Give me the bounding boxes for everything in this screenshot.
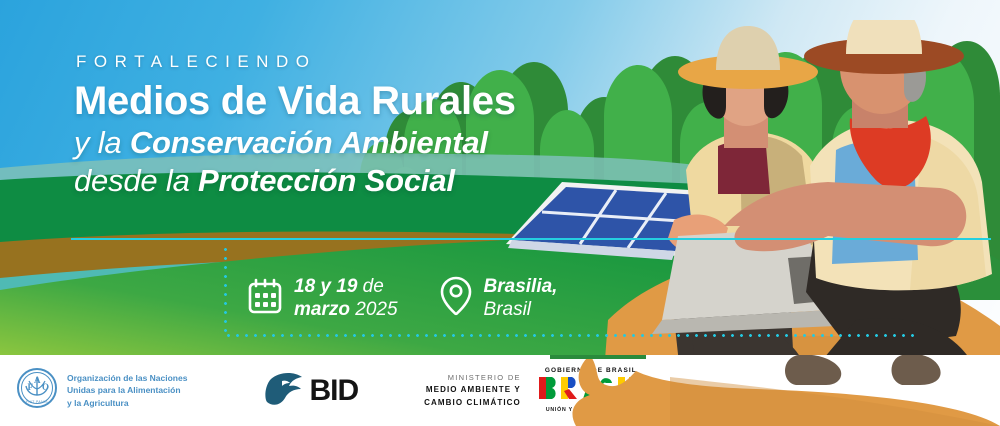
ministry-line-3: CAMBIO CLIMÁTICO: [424, 397, 521, 409]
title-line-2: y la Conservación Ambiental: [74, 124, 634, 161]
svg-text:F: F: [28, 382, 34, 392]
svg-text:FIAT PANIS: FIAT PANIS: [26, 400, 48, 404]
bid-wordmark: BID: [309, 374, 358, 408]
event-date: 18 y 19 de marzo 2025: [248, 276, 398, 320]
title-line-3-prefix: desde la: [74, 163, 198, 198]
accent-rule: [71, 238, 991, 240]
bid-emblem-icon: [265, 371, 305, 410]
logo-fao[interactable]: F A O FIAT PANIS Organización de las Nac…: [16, 367, 187, 414]
horizontal-dotted-divider: [224, 334, 914, 337]
kicker-text: FORTALECIENDO: [76, 52, 634, 72]
event-date-line-1: 18 y 19 de: [294, 276, 398, 298]
ministry-line-1: MINISTERIO DE: [424, 372, 521, 384]
svg-text:A: A: [34, 375, 41, 385]
sponsor-footer: F A O FIAT PANIS Organización de las Nac…: [0, 355, 1000, 426]
brasil-bottom-text: UNIÓN Y RECONSTRUCCIÓN: [539, 407, 643, 414]
event-date-text: 18 y 19 de marzo 2025: [294, 276, 398, 320]
event-date-de: de: [357, 276, 383, 297]
event-date-days: 18 y 19: [294, 276, 357, 297]
ministry-line-2: MEDIO AMBIENTE Y: [424, 384, 521, 396]
title-line-2-emphasis: Conservación Ambiental: [130, 125, 488, 160]
logo-bid[interactable]: BID: [265, 371, 358, 410]
brasil-wordmark-icon: [539, 388, 643, 405]
event-meta-row: 18 y 19 de marzo 2025 Brasilia, Brasil: [248, 276, 557, 321]
map-pin-icon: [440, 276, 472, 321]
logo-ministry[interactable]: MINISTERIO DE MEDIO AMBIENTE Y CAMBIO CL…: [424, 372, 521, 409]
title-line-2-prefix: y la: [74, 125, 130, 160]
logo-gobierno-brasil[interactable]: GOBIERNO DE BRASIL: [539, 367, 643, 414]
event-country: Brasil: [484, 299, 558, 321]
title-line-3-emphasis: Protección Social: [198, 163, 455, 198]
fao-emblem-icon: F A O FIAT PANIS: [16, 367, 58, 414]
event-city: Brasilia,: [484, 276, 558, 298]
brasil-top-text: GOBIERNO DE BRASIL: [539, 367, 643, 375]
event-date-line-2: marzo 2025: [294, 299, 398, 321]
event-banner: FORTALECIENDO Medios de Vida Rurales y l…: [0, 0, 1000, 426]
vertical-dotted-divider: [224, 245, 227, 337]
calendar-icon: [248, 278, 282, 319]
fao-label: Organización de las Naciones Unidas para…: [67, 372, 187, 409]
title-line-1: Medios de Vida Rurales: [74, 80, 634, 122]
headline-block: FORTALECIENDO Medios de Vida Rurales y l…: [74, 52, 634, 200]
event-date-year: 2025: [350, 299, 398, 320]
event-date-month: marzo: [294, 299, 350, 320]
event-location-text: Brasilia, Brasil: [484, 276, 558, 320]
event-location: Brasilia, Brasil: [440, 276, 558, 321]
svg-text:O: O: [42, 382, 49, 392]
title-line-3: desde la Protección Social: [74, 162, 634, 200]
sponsor-logos: F A O FIAT PANIS Organización de las Nac…: [0, 367, 643, 414]
